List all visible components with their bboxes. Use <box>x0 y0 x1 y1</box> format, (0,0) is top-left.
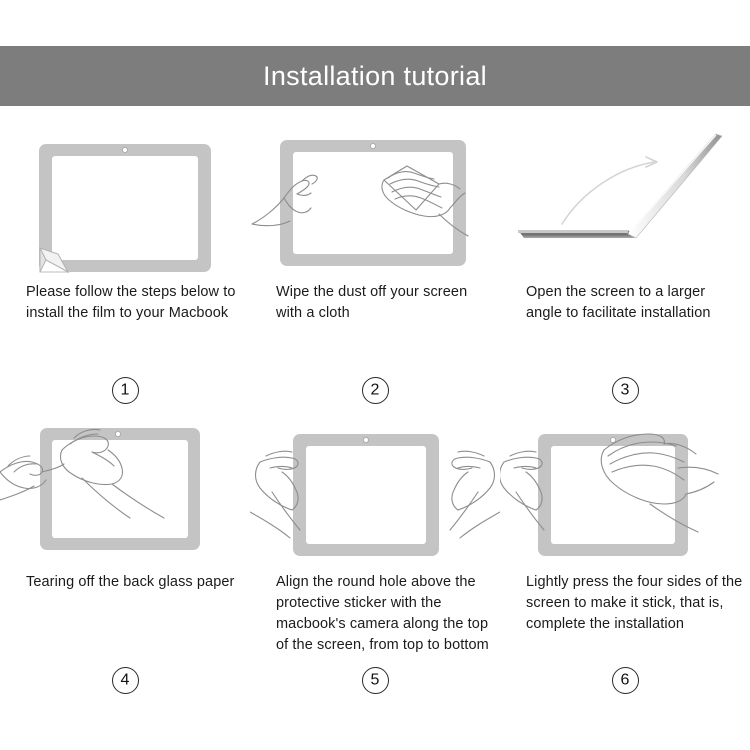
step-number-badge: 3 <box>612 377 639 404</box>
step-number-badge: 6 <box>612 667 639 694</box>
step-number-badge: 5 <box>362 667 389 694</box>
step-badge-wrap-4: 4 <box>0 667 250 694</box>
illustration-tearing-back-paper <box>0 416 250 566</box>
step-number-badge: 4 <box>112 667 139 694</box>
step-badge-wrap-3: 3 <box>500 377 750 404</box>
step-caption: Wipe the dust off your screen with a clo… <box>276 282 488 324</box>
illustration-laptop-peeling-film <box>0 126 250 276</box>
header-banner: Installation tutorial <box>0 46 750 106</box>
step-badge-wrap-5: 5 <box>250 667 500 694</box>
illustration-open-laptop-angle <box>500 126 750 276</box>
step-number-text: 4 <box>121 672 130 688</box>
step-caption: Lightly press the four sides of the scre… <box>526 572 744 635</box>
step-card-6: Lightly press the four sides of the scre… <box>500 416 750 706</box>
step-caption: Tearing off the back glass paper <box>26 572 244 593</box>
page-title: Installation tutorial <box>263 63 487 90</box>
step-card-1: Please follow the steps below to install… <box>0 126 250 416</box>
step-card-2: Wipe the dust off your screen with a clo… <box>250 126 500 416</box>
steps-grid: Please follow the steps below to install… <box>0 126 750 750</box>
step-number-badge: 1 <box>112 377 139 404</box>
step-number-text: 1 <box>121 382 130 398</box>
step-number-text: 2 <box>371 382 380 398</box>
step-caption: Open the screen to a larger angle to fac… <box>526 282 738 324</box>
illustration-aligning-film <box>250 416 500 566</box>
step-badge-wrap-2: 2 <box>250 377 500 404</box>
illustration-wiping-screen <box>250 126 500 276</box>
step-card-5: Align the round hole above the protectiv… <box>250 416 500 706</box>
step-badge-wrap-1: 1 <box>0 377 250 404</box>
step-number-text: 5 <box>371 672 380 688</box>
step-card-3: Open the screen to a larger angle to fac… <box>500 126 750 416</box>
illustration-pressing-screen <box>500 416 750 566</box>
step-card-4: Tearing off the back glass paper 4 <box>0 416 250 706</box>
step-number-badge: 2 <box>362 377 389 404</box>
step-number-text: 3 <box>621 382 630 398</box>
step-caption: Please follow the steps below to install… <box>26 282 238 324</box>
step-caption: Align the round hole above the protectiv… <box>276 572 494 656</box>
step-badge-wrap-6: 6 <box>500 667 750 694</box>
tutorial-page: Installation tutorial Please follow the … <box>0 0 750 750</box>
step-number-text: 6 <box>621 672 630 688</box>
